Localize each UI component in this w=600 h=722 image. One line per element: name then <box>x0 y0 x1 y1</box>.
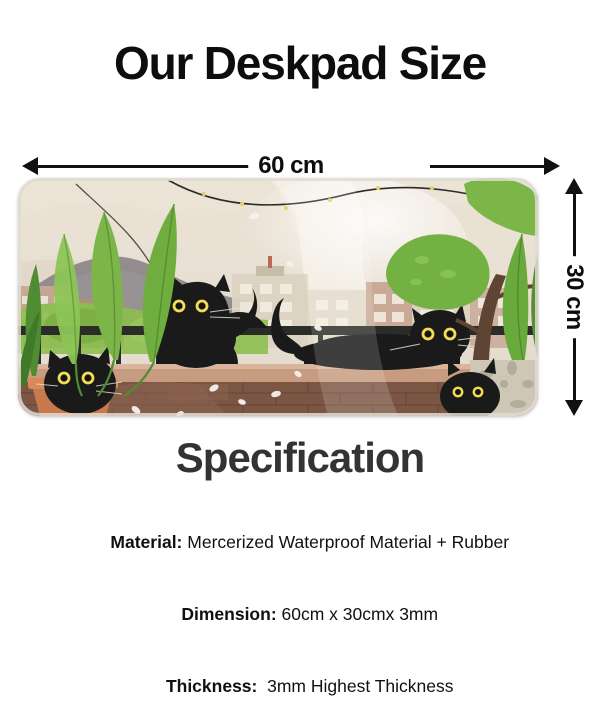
height-line-bottom <box>573 336 576 404</box>
arrow-down-icon <box>565 400 583 416</box>
spec-value-dimension: 60cm x 30cmx 3mm <box>277 604 438 624</box>
height-dimension-indicator: 30 cm <box>560 178 588 416</box>
spec-key-thickness: Thickness: <box>166 676 257 696</box>
spec-row-material: Material: Mercerized Waterproof Material… <box>0 506 600 578</box>
specification-list: Material: Mercerized Waterproof Material… <box>0 506 600 722</box>
spec-key-material: Material: <box>110 532 182 552</box>
width-line-left <box>36 165 262 168</box>
spec-key-dimension: Dimension: <box>181 604 276 624</box>
width-line-right <box>430 165 546 168</box>
arrow-right-icon <box>544 157 560 175</box>
height-line-top <box>573 190 576 258</box>
width-dimension-label: 60 cm <box>248 151 334 181</box>
height-dimension-label: 30 cm <box>560 256 588 338</box>
spec-value-thickness: 3mm Highest Thickness <box>257 676 453 696</box>
specification-heading: Specification <box>0 434 600 482</box>
spec-row-thickness: Thickness: 3mm Highest Thickness <box>0 650 600 722</box>
spec-row-dimension: Dimension: 60cm x 30cmx 3mm <box>0 578 600 650</box>
deskpad-illustration <box>18 178 538 416</box>
page-title: Our Deskpad Size <box>0 36 600 90</box>
deskpad-product-image <box>18 178 538 416</box>
width-dimension-indicator: 60 cm <box>22 151 560 181</box>
spec-value-material: Mercerized Waterproof Material + Rubber <box>182 532 509 552</box>
